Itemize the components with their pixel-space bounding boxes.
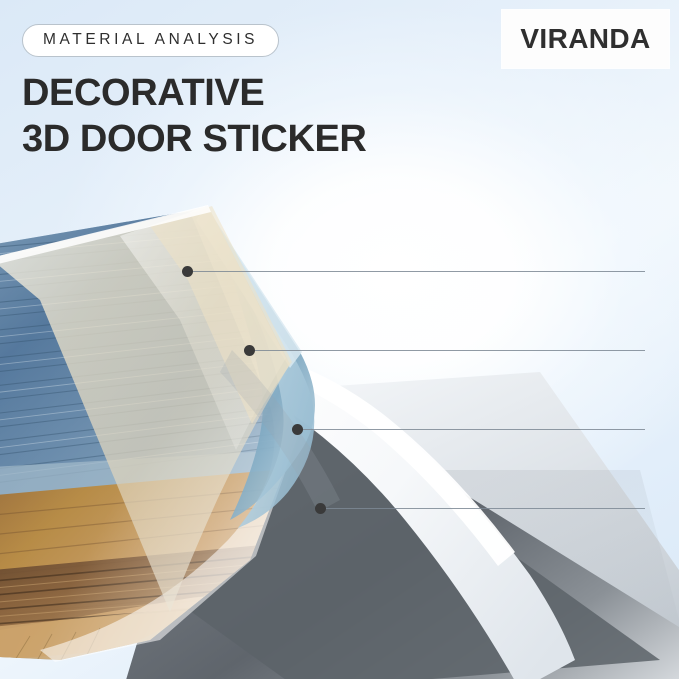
page-title: DECORATIVE 3D DOOR STICKER bbox=[22, 70, 366, 162]
callout-dot-waterproof bbox=[182, 266, 193, 277]
callout-leader-line-waterproof bbox=[193, 271, 645, 272]
brand-name: VIRANDA bbox=[520, 23, 650, 55]
callout-dot-backing bbox=[315, 503, 326, 514]
eyebrow-badge: MATERIAL ANALYSIS bbox=[22, 24, 279, 57]
eyebrow-label: MATERIAL ANALYSIS bbox=[43, 31, 258, 48]
callout-leader-line-hd-pattern bbox=[255, 350, 645, 351]
title-line-2: 3D DOOR STICKER bbox=[22, 116, 366, 162]
callout-dot-bonding bbox=[292, 424, 303, 435]
brand-logo-box: VIRANDA bbox=[502, 10, 669, 68]
title-line-1: DECORATIVE bbox=[22, 72, 264, 114]
material-analysis-infographic: MATERIAL ANALYSIS DECORATIVE 3D DOOR STI… bbox=[0, 0, 679, 679]
callout-leader-line-bonding bbox=[303, 429, 645, 430]
callout-dot-hd-pattern bbox=[244, 345, 255, 356]
callout-leader-line-backing bbox=[326, 508, 645, 509]
